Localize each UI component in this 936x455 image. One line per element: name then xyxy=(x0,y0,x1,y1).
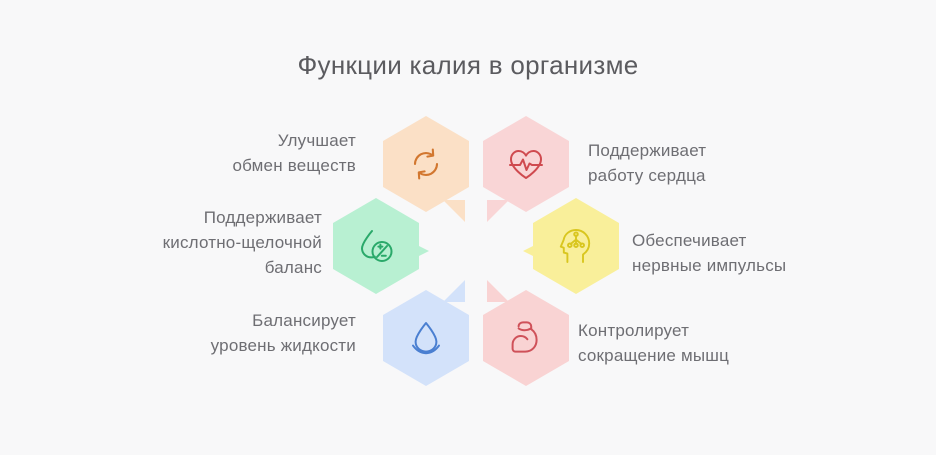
label-acid-base: Поддерживает кислотно-щелочной баланс xyxy=(163,205,322,280)
label-line: Контролирует xyxy=(578,318,729,343)
label-line: Обеспечивает xyxy=(632,228,786,253)
label-line: нервные импульсы xyxy=(632,253,786,278)
label-line: кислотно-щелочной xyxy=(163,230,322,255)
label-line: обмен веществ xyxy=(232,153,356,178)
label-fluid-balance: Балансирует уровень жидкости xyxy=(211,308,356,358)
label-metabolism: Улучшает обмен веществ xyxy=(232,128,356,178)
label-line: Поддерживает xyxy=(588,138,706,163)
badge-acid-base[interactable] xyxy=(333,198,419,294)
label-line: уровень жидкости xyxy=(211,333,356,358)
label-line: Улучшает xyxy=(232,128,356,153)
label-muscle-contraction: Контролирует сокращение мышц xyxy=(578,318,729,368)
label-line: баланс xyxy=(163,255,322,280)
label-nerve-impulses: Обеспечивает нервные импульсы xyxy=(632,228,786,278)
badge-fluid-balance[interactable] xyxy=(383,290,469,386)
label-line: Поддерживает xyxy=(163,205,322,230)
badge-nerve-impulses[interactable] xyxy=(533,198,619,294)
water-drop-level-icon xyxy=(383,290,469,386)
head-neural-icon xyxy=(533,198,619,294)
infographic-canvas: Функции калия в организме Улучшает обмен… xyxy=(0,0,936,455)
flexed-bicep-icon xyxy=(483,290,569,386)
label-line: работу сердца xyxy=(588,163,706,188)
label-line: Балансирует xyxy=(211,308,356,333)
page-title: Функции калия в организме xyxy=(0,50,936,81)
label-heart: Поддерживает работу сердца xyxy=(588,138,706,188)
label-line: сокращение мышц xyxy=(578,343,729,368)
badge-muscle-contraction[interactable] xyxy=(483,290,569,386)
droplet-ph-balance-icon xyxy=(333,198,419,294)
